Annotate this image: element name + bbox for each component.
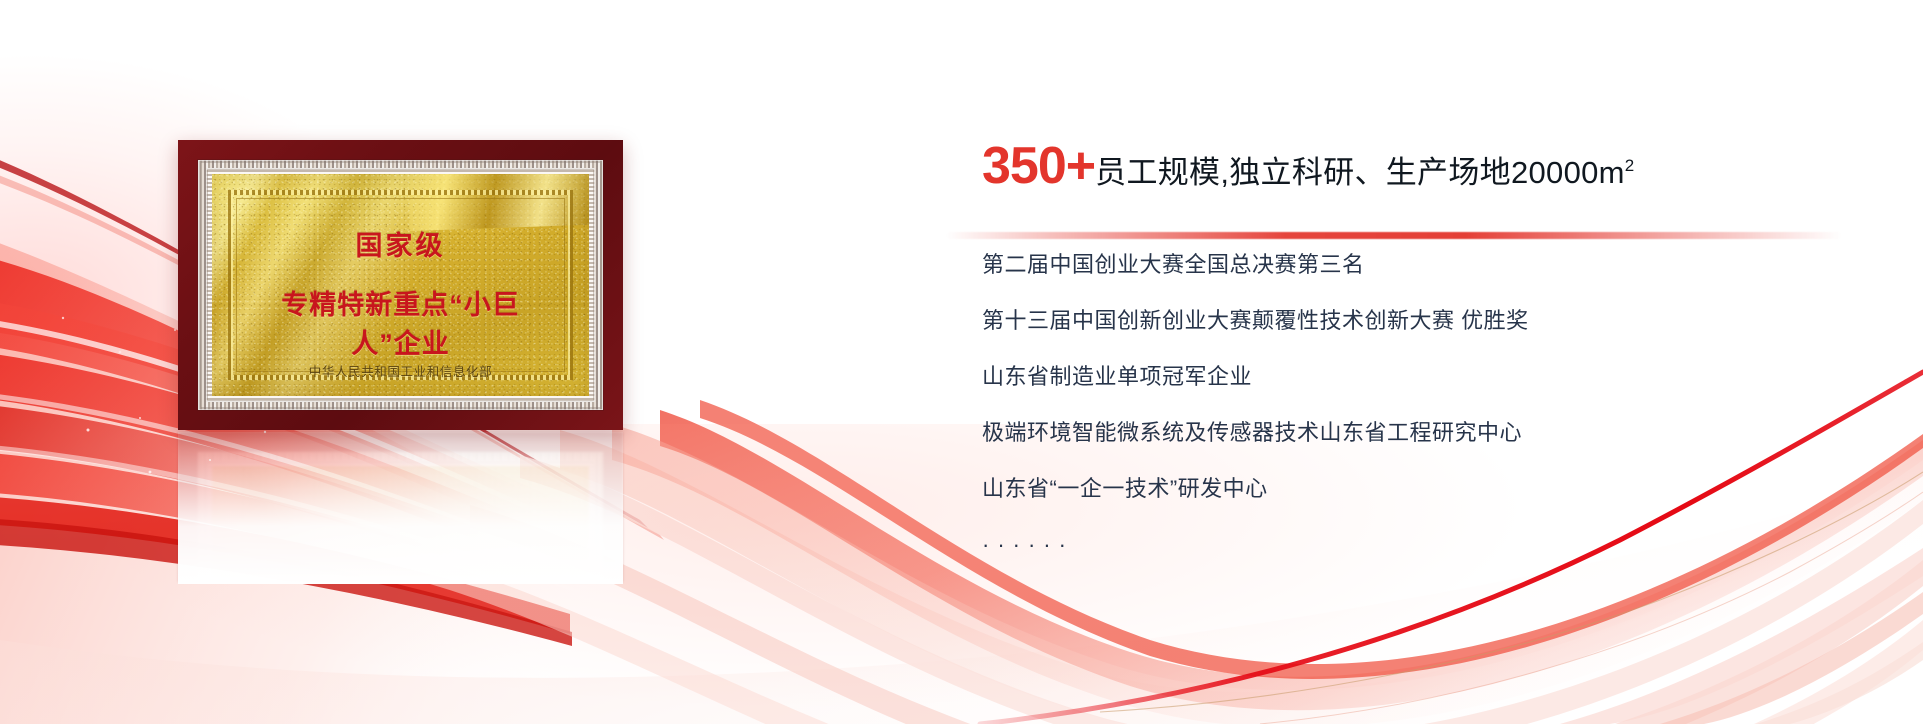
headline-text: 员工规模,独立科研、生产场地20000m: [1095, 157, 1625, 188]
headline-superscript: 2: [1625, 157, 1634, 174]
list-item: 极端环境智能微系统及传感器技术山东省工程研究中心: [982, 422, 1882, 444]
plaque-gold-plate: 国家级 专精特新重点“小巨人”企业 中华人民共和国工业和信息化部 2024年12…: [212, 174, 589, 396]
list-item: 山东省“一企一技术”研发中心: [982, 478, 1882, 500]
content-column: 350+ 员工规模,独立科研、生产场地20000m 2 第二届中国创业大赛全国总…: [982, 140, 1882, 556]
honors-banner: 国家级 专精特新重点“小巨人”企业 中华人民共和国工业和信息化部 2024年12…: [0, 0, 1923, 724]
right-pale-ribbons: [1560, 548, 1923, 724]
plaque-issuer: 中华人民共和国工业和信息化部: [252, 361, 549, 380]
plaque-date: 2024年12月: [252, 392, 549, 396]
list-item: 第二届中国创业大赛全国总决赛第三名: [982, 254, 1882, 276]
honors-list: 第二届中国创业大赛全国总决赛第三名 第十三届中国创新创业大赛颠覆性技术创新大赛 …: [982, 254, 1882, 556]
headline: 350+ 员工规模,独立科研、生产场地20000m 2: [982, 140, 1882, 192]
list-item: 第十三届中国创新创业大赛颠覆性技术创新大赛 优胜奖: [982, 310, 1882, 332]
plaque-reflection: [178, 432, 623, 582]
award-plaque: 国家级 专精特新重点“小巨人”企业 中华人民共和国工业和信息化部 2024年12…: [178, 140, 623, 430]
plaque-title-line-1: 国家级: [252, 224, 549, 263]
headline-underline: [946, 232, 1842, 239]
honors-ellipsis: ······: [982, 534, 1882, 556]
headline-number: 350+: [982, 140, 1095, 192]
list-item: 山东省制造业单项冠军企业: [982, 366, 1882, 388]
plaque-text-block: 国家级 专精特新重点“小巨人”企业 中华人民共和国工业和信息化部 2024年12…: [252, 208, 549, 370]
plaque-outer-frame: 国家级 专精特新重点“小巨人”企业 中华人民共和国工业和信息化部 2024年12…: [178, 140, 623, 430]
plaque-title-line-2: 专精特新重点“小巨人”企业: [252, 283, 549, 361]
plaque-reflection-fade: [178, 432, 623, 584]
